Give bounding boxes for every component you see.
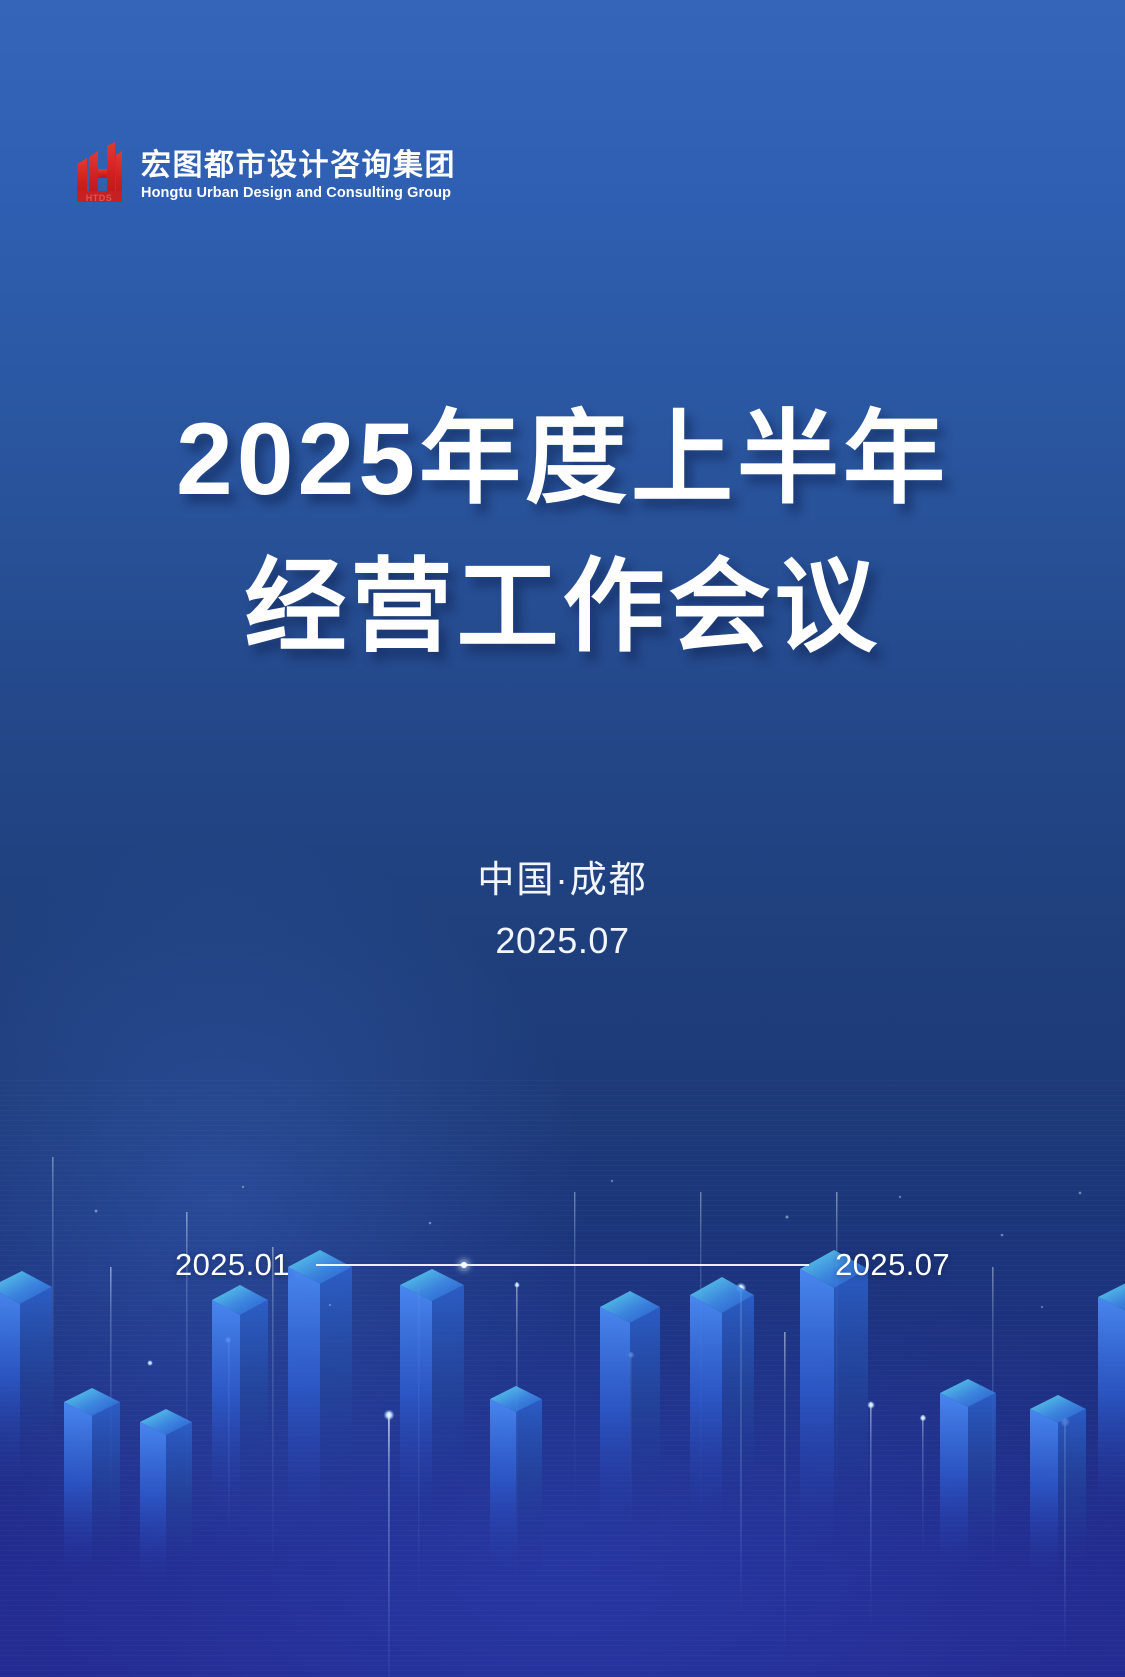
background-glow-bottom — [0, 1237, 1125, 1677]
timeline: 2025.01 2025.07 — [175, 1243, 950, 1287]
page-title: 2025年度上半年 经营工作会议 — [0, 385, 1125, 681]
page-title-line-1: 2025年度上半年 — [0, 385, 1125, 533]
subtitle-location: 中国·成都 — [0, 852, 1125, 908]
brand-name-cn: 宏图都市设计咨询集团 — [141, 149, 456, 183]
timeline-marker-dot — [461, 1262, 467, 1268]
timeline-end-label: 2025.07 — [835, 1243, 950, 1287]
timeline-track — [316, 1264, 809, 1266]
building-h-logo-icon: HTDS — [73, 142, 125, 204]
logo-abbrev: HTDS — [73, 194, 125, 203]
page-title-line-2: 经营工作会议 — [0, 533, 1125, 681]
cover-slide: HTDS 宏图都市设计咨询集团 Hongtu Urban Design and … — [0, 0, 1125, 1677]
brand-logo: HTDS 宏图都市设计咨询集团 Hongtu Urban Design and … — [73, 142, 456, 204]
skyline-graphic — [0, 1157, 1125, 1677]
brand-name-en: Hongtu Urban Design and Consulting Group — [141, 184, 456, 202]
brand-name-block: 宏图都市设计咨询集团 Hongtu Urban Design and Consu… — [141, 149, 456, 204]
subtitle-date: 2025.07 — [0, 914, 1125, 968]
subtitle-block: 中国·成都 2025.07 — [0, 852, 1125, 968]
background-scanlines — [0, 1080, 1125, 1677]
timeline-start-label: 2025.01 — [175, 1243, 290, 1287]
